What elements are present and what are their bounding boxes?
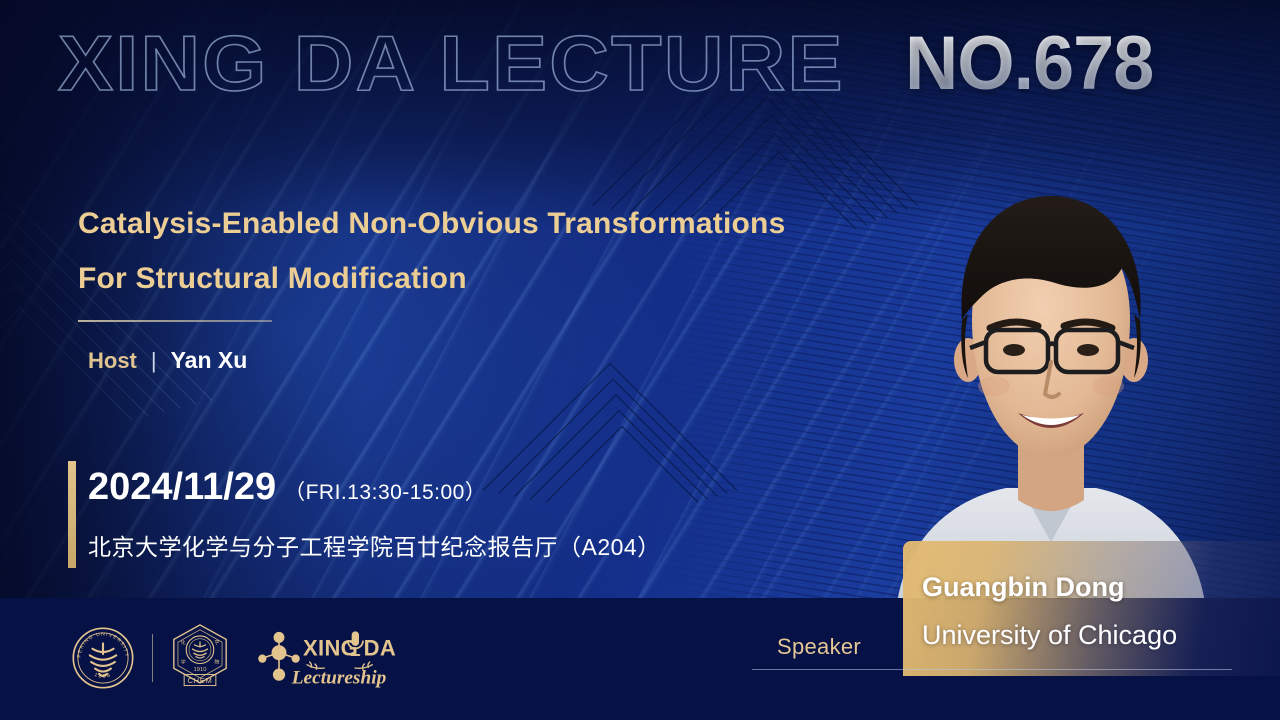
poster-header: XING DA LECTURE NO.678 bbox=[0, 0, 1280, 130]
date-accent-bar bbox=[68, 461, 76, 568]
logo-divider bbox=[152, 634, 153, 682]
event-venue: 北京大学化学与分子工程学院百廿纪念报告厅（A204） bbox=[88, 528, 661, 562]
lecture-title-line-1: Catalysis-Enabled Non-Obvious Transforma… bbox=[78, 196, 958, 251]
host-label: Host bbox=[88, 348, 137, 374]
svg-text:DA: DA bbox=[364, 635, 396, 660]
host-row: Host | Yan Xu bbox=[88, 347, 247, 374]
host-name: Yan Xu bbox=[171, 347, 248, 374]
lecture-series-title: XING DA LECTURE bbox=[58, 18, 845, 109]
host-separator: | bbox=[151, 348, 157, 374]
svg-text:1910: 1910 bbox=[193, 667, 207, 673]
svg-text:院: 院 bbox=[214, 659, 219, 666]
xing-da-lectureship-logo: XING DA Lectureship bbox=[253, 626, 401, 690]
host-divider bbox=[78, 320, 272, 322]
svg-text:学: 学 bbox=[181, 659, 186, 666]
pku-chemistry-seal-logo: 化 学 学 院 1910 CHEM bbox=[169, 622, 231, 694]
speaker-label: Speaker bbox=[777, 634, 861, 660]
speaker-affiliation: University of Chicago bbox=[922, 620, 1177, 651]
svg-text:Lectureship: Lectureship bbox=[291, 667, 387, 688]
speaker-info-panel bbox=[903, 541, 1280, 676]
lecture-title-line-2: For Structural Modification bbox=[78, 251, 958, 306]
speaker-underline bbox=[752, 669, 1232, 670]
footer-logos: PEKING UNIVERSITY 1898 bbox=[70, 622, 401, 694]
lecture-poster: XING DA LECTURE NO.678 Catalysis-Enabled… bbox=[0, 0, 1280, 720]
svg-text:XING: XING bbox=[303, 635, 358, 660]
speaker-name: Guangbin Dong bbox=[922, 572, 1124, 603]
lecture-title: Catalysis-Enabled Non-Obvious Transforma… bbox=[78, 196, 958, 306]
peking-university-seal-logo: PEKING UNIVERSITY 1898 bbox=[70, 625, 136, 691]
event-date: 2024/11/29 bbox=[88, 466, 276, 509]
event-time: （FRI.13:30-15:00） bbox=[284, 476, 486, 506]
event-datetime: 2024/11/29 （FRI.13:30-15:00） bbox=[88, 466, 486, 509]
svg-text:CHEM: CHEM bbox=[187, 676, 212, 685]
lecture-number: NO.678 bbox=[905, 20, 1153, 107]
